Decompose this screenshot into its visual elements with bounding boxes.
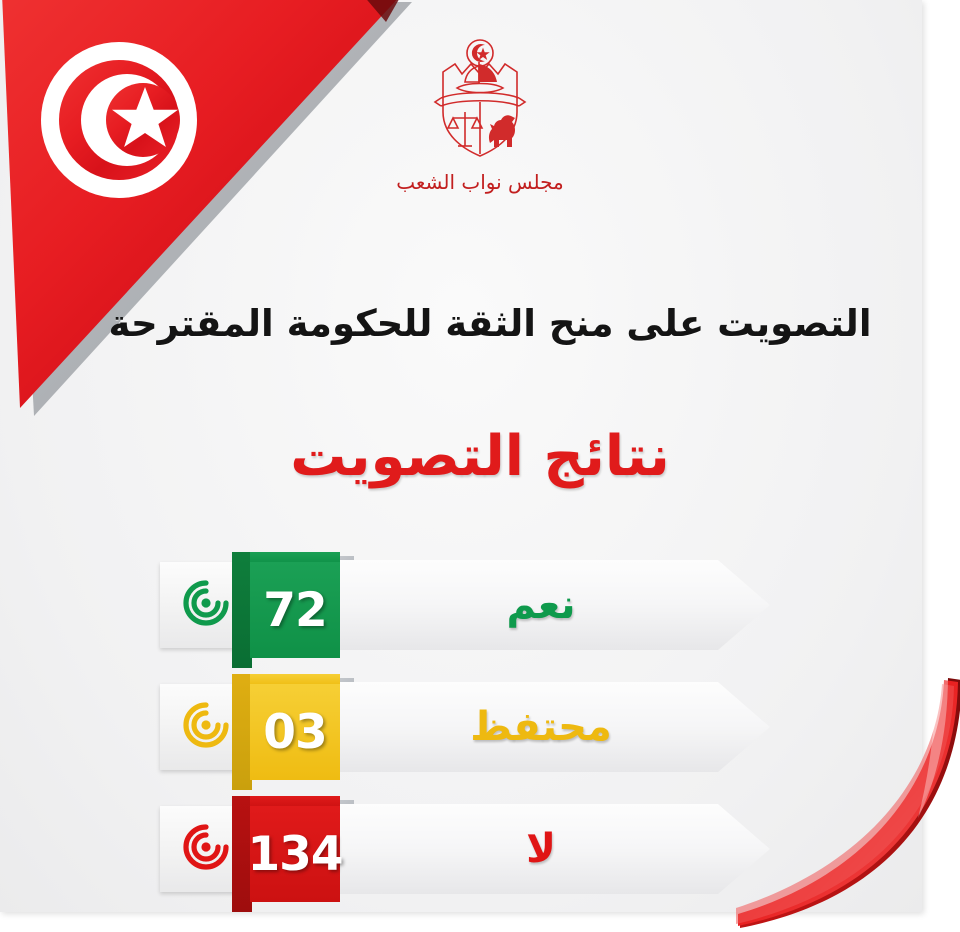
results-heading: نتائج التصويت [0, 424, 960, 489]
page-title: التصويت على منح الثقة للحكومة المقترحة [60, 300, 920, 347]
result-row-no: 134 لا [160, 796, 780, 906]
result-label-yes: نعم [507, 582, 576, 628]
target-spiral-icon [182, 701, 230, 753]
count-box-side-abstain [232, 674, 252, 790]
tunisia-coat-of-arms-icon [421, 34, 539, 168]
count-box-abstain: 03 [232, 674, 340, 780]
arrow-bar-no[interactable]: لا [340, 804, 770, 894]
target-spiral-icon [182, 579, 230, 631]
assembly-emblem: مجلس نواب الشعب [0, 34, 960, 194]
count-box-no: 134 [232, 796, 340, 902]
count-box-side-yes [232, 552, 252, 668]
results-list: 72 نعم 03 [160, 552, 780, 918]
count-value-no: 134 [250, 806, 340, 902]
arrow-bar-abstain[interactable]: محتفظ [340, 682, 770, 772]
count-box-yes: 72 [232, 552, 340, 658]
target-spiral-icon [182, 823, 230, 875]
emblem-subtitle: مجلس نواب الشعب [396, 170, 564, 194]
count-value-abstain: 03 [250, 684, 340, 780]
arrow-bar-yes[interactable]: نعم [340, 560, 770, 650]
result-row-yes: 72 نعم [160, 552, 780, 662]
result-label-abstain: محتفظ [470, 704, 612, 750]
count-value-yes: 72 [250, 562, 340, 658]
result-row-abstain: 03 محتفظ [160, 674, 780, 784]
vote-results-poster: مجلس نواب الشعب التصويت على منح الثقة لل… [0, 0, 960, 932]
result-label-no: لا [526, 826, 556, 872]
